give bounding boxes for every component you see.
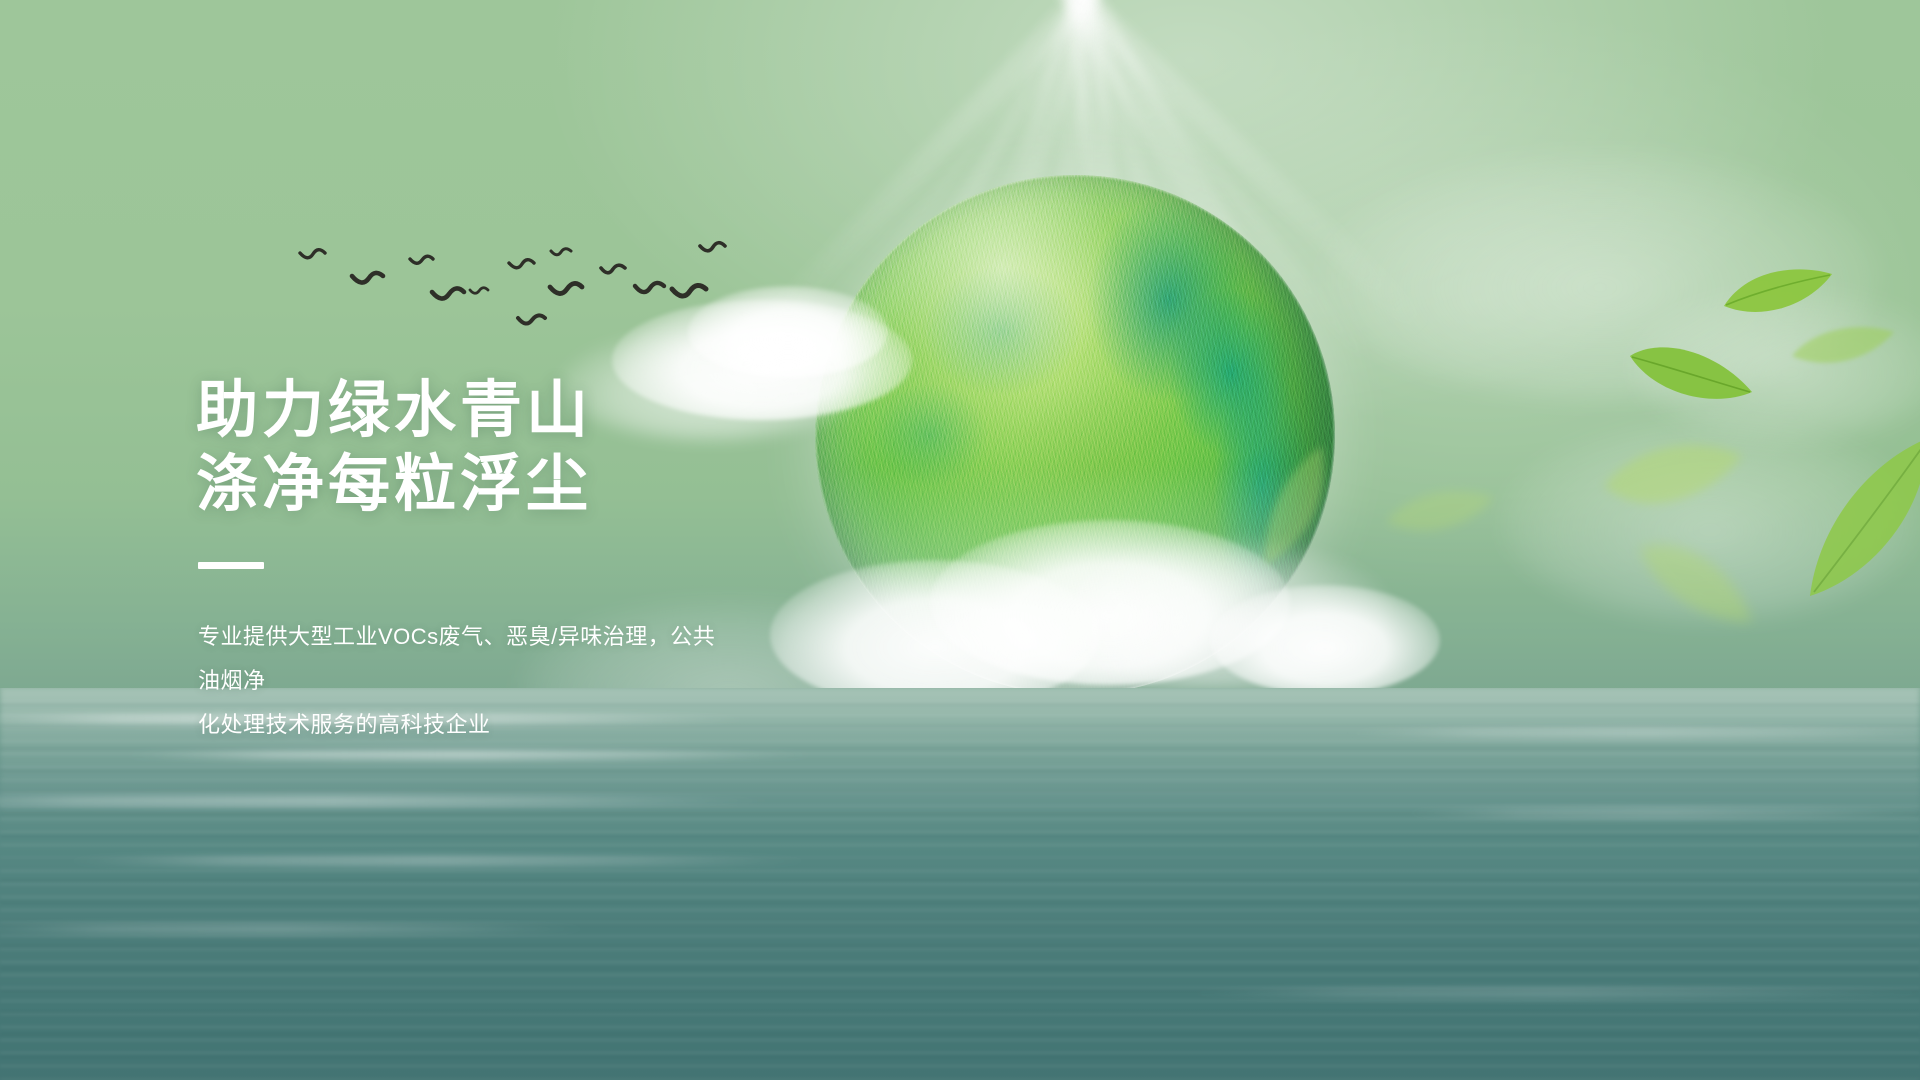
hero-subcopy: 专业提供大型工业VOCs废气、恶臭/异味治理，公共油烟净 化处理技术服务的高科技… xyxy=(198,615,728,747)
leaf-icon xyxy=(1598,428,1748,538)
bird-icon xyxy=(601,265,625,273)
leaf-icon xyxy=(1788,316,1898,386)
bird-icon xyxy=(672,285,706,296)
bird-icon xyxy=(509,260,534,268)
bird-icon xyxy=(550,283,582,293)
leaf-icon xyxy=(1718,260,1838,340)
bird-icon xyxy=(410,256,433,263)
leaf-icon xyxy=(1630,530,1760,640)
water-wave xyxy=(1400,808,1920,818)
title-divider xyxy=(198,562,264,569)
bird-icon xyxy=(518,315,545,323)
water-wave xyxy=(60,856,820,866)
water-wave xyxy=(1180,988,1920,998)
leaf-icon xyxy=(1380,478,1500,558)
cloud-far-right xyxy=(1320,150,1880,400)
hero-banner: 助力绿水青山 涤净每粒浮尘 专业提供大型工业VOCs废气、恶臭/异味治理，公共油… xyxy=(0,0,1920,1080)
water-wave xyxy=(120,750,820,760)
bird-icon xyxy=(551,249,571,255)
subcopy-line2: 化处理技术服务的高科技企业 xyxy=(198,703,728,747)
bird-icon xyxy=(432,288,464,298)
bird-icon xyxy=(300,250,325,258)
page-title-line1: 助力绿水青山 xyxy=(196,374,956,448)
cloud-right-low xyxy=(1500,420,1920,620)
bird-icon xyxy=(352,273,383,283)
page-title-line2: 涤净每粒浮尘 xyxy=(196,448,956,522)
subcopy-line1: 专业提供大型工业VOCs废气、恶臭/异味治理，公共油烟净 xyxy=(198,615,728,703)
leaf-icon xyxy=(1800,432,1920,602)
leaf-icon xyxy=(1626,330,1756,420)
bird-icon xyxy=(635,283,664,292)
bird-icon xyxy=(700,243,725,251)
cloud-right-edge xyxy=(1630,290,1920,440)
hero-copy: 助力绿水青山 涤净每粒浮尘 专业提供大型工业VOCs废气、恶臭/异味治理，公共油… xyxy=(196,374,956,747)
bird-icon xyxy=(470,288,488,294)
